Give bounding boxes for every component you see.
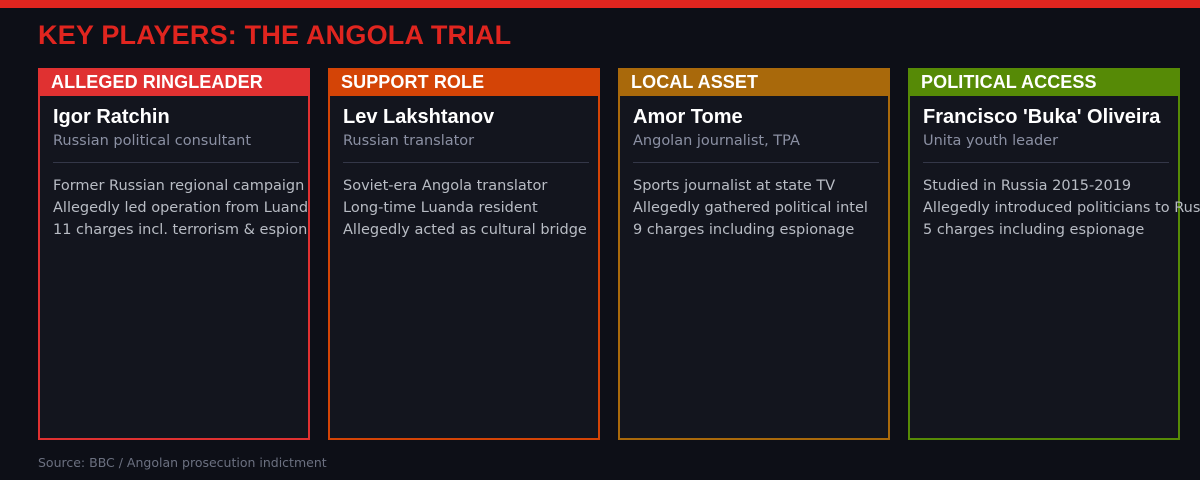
card-header-label: ALLEGED RINGLEADER [38, 68, 310, 96]
page-title: KEY PLAYERS: THE ANGOLA TRIAL [38, 20, 511, 51]
person-role: Unita youth leader [923, 130, 1178, 152]
fact-item: 5 charges including espionage [923, 219, 1178, 241]
fact-item: Soviet-era Angola translator [343, 175, 598, 197]
person-name: Amor Tome [633, 105, 888, 130]
card-header-label: LOCAL ASSET [618, 68, 890, 96]
card-header-label: POLITICAL ACCESS [908, 68, 1180, 96]
player-card-local-asset: LOCAL ASSET Amor Tome Angolan journalist… [618, 68, 890, 440]
fact-item: Studied in Russia 2015-2019 [923, 175, 1178, 197]
person-role: Russian political consultant [53, 130, 308, 152]
person-name: Lev Lakshtanov [343, 105, 598, 130]
card-body: Francisco 'Buka' Oliveira Unita youth le… [908, 96, 1180, 440]
card-divider [633, 162, 879, 163]
fact-item: Allegedly introduced politicians to Russ… [923, 197, 1178, 219]
card-divider [53, 162, 299, 163]
fact-item: Allegedly acted as cultural bridge [343, 219, 598, 241]
person-role: Russian translator [343, 130, 598, 152]
key-players-card-grid: ALLEGED RINGLEADER Igor Ratchin Russian … [38, 68, 1200, 444]
source-caption: Source: BBC / Angolan prosecution indict… [38, 455, 327, 470]
person-name: Francisco 'Buka' Oliveira [923, 105, 1178, 130]
fact-item: Long-time Luanda resident [343, 197, 598, 219]
player-card-political-access: POLITICAL ACCESS Francisco 'Buka' Olivei… [908, 68, 1180, 440]
player-card-support-role: SUPPORT ROLE Lev Lakshtanov Russian tran… [328, 68, 600, 440]
card-body: Lev Lakshtanov Russian translator Soviet… [328, 96, 600, 440]
fact-item: 9 charges including espionage [633, 219, 888, 241]
fact-item: Allegedly led operation from Luanda [53, 197, 308, 219]
card-header-label: SUPPORT ROLE [328, 68, 600, 96]
fact-item: Allegedly gathered political intel [633, 197, 888, 219]
fact-item: Former Russian regional campaign manager [53, 175, 308, 197]
person-name: Igor Ratchin [53, 105, 308, 130]
person-role: Angolan journalist, TPA [633, 130, 888, 152]
card-body: Igor Ratchin Russian political consultan… [38, 96, 310, 440]
fact-item: 11 charges incl. terrorism & espionage [53, 219, 308, 241]
fact-item: Sports journalist at state TV [633, 175, 888, 197]
top-accent-bar [0, 0, 1200, 8]
card-body: Amor Tome Angolan journalist, TPA Sports… [618, 96, 890, 440]
card-divider [923, 162, 1169, 163]
card-divider [343, 162, 589, 163]
player-card-alleged-ringleader: ALLEGED RINGLEADER Igor Ratchin Russian … [38, 68, 310, 440]
